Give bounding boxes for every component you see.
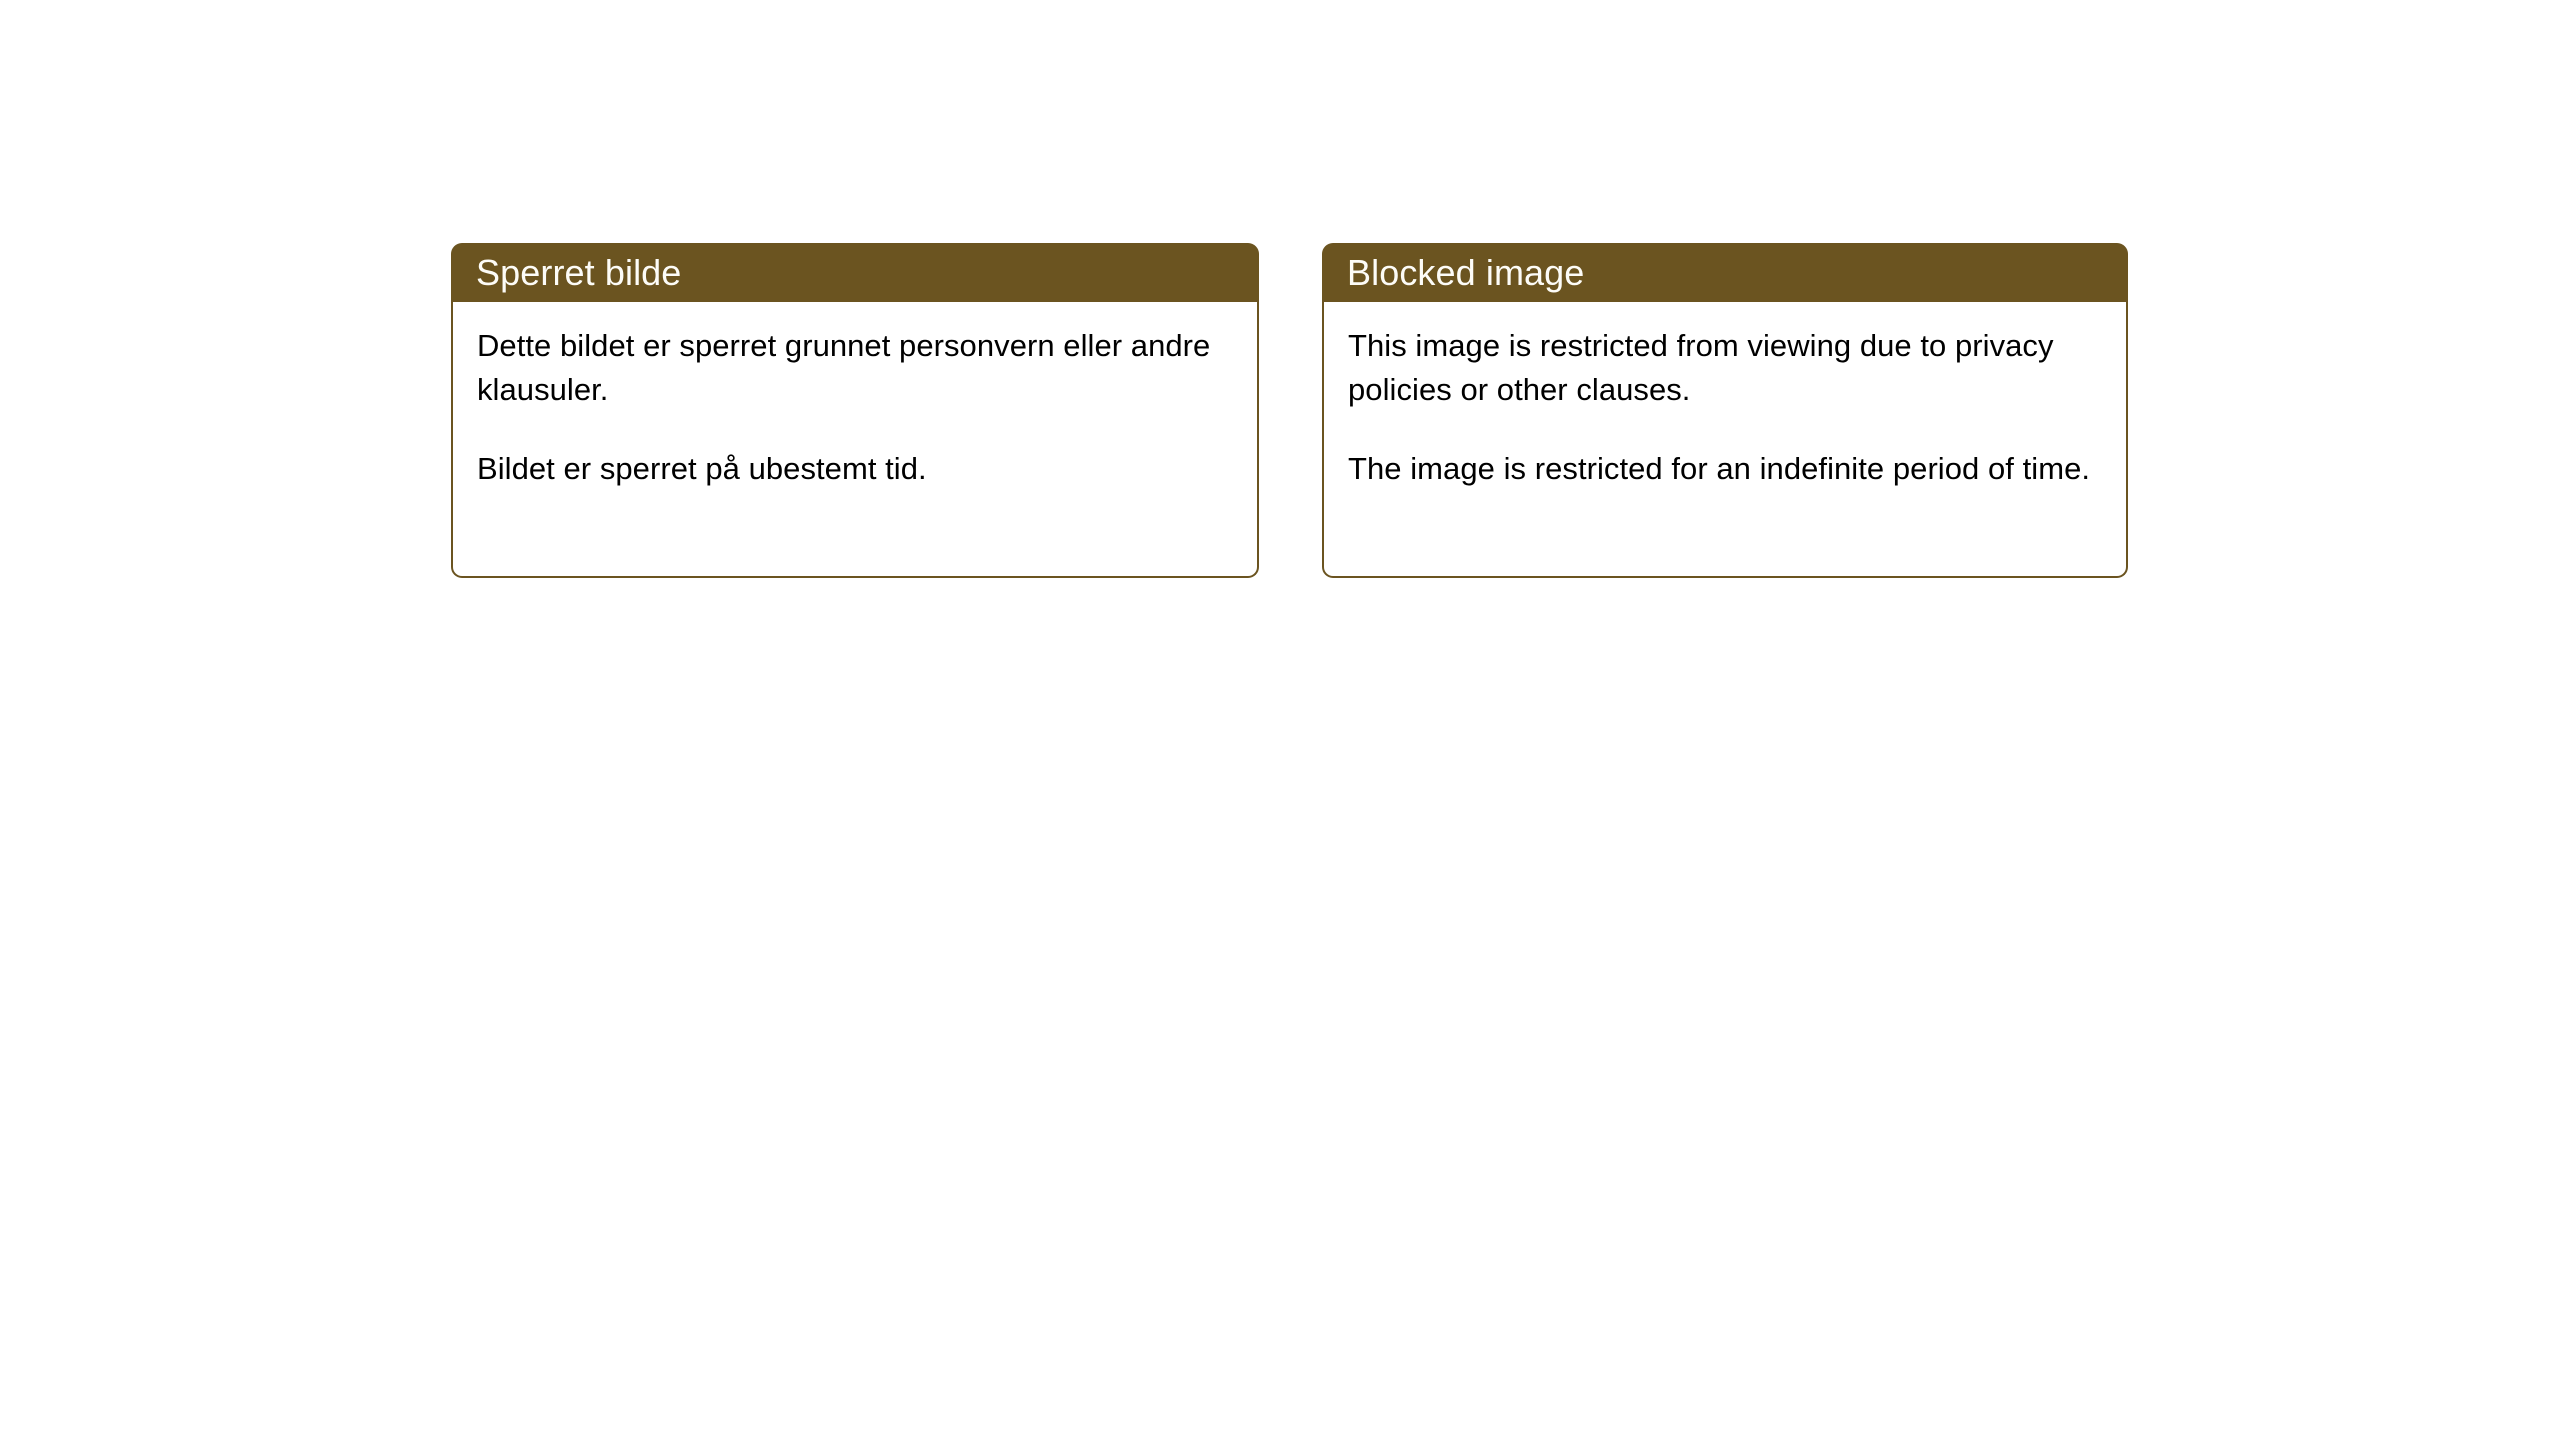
card-paragraph-primary: Dette bildet er sperret grunnet personve…	[477, 324, 1235, 412]
page-canvas: Sperret bilde Dette bildet er sperret gr…	[0, 0, 2560, 1440]
card-title: Blocked image	[1347, 253, 1584, 293]
blocked-image-notice-card-english: Blocked image This image is restricted f…	[1322, 243, 2128, 578]
blocked-image-notice-card-norwegian: Sperret bilde Dette bildet er sperret gr…	[451, 243, 1259, 578]
card-body: Dette bildet er sperret grunnet personve…	[451, 302, 1259, 578]
card-paragraph-primary: This image is restricted from viewing du…	[1348, 324, 2104, 412]
card-header-bar: Blocked image	[1322, 243, 2128, 302]
card-body: This image is restricted from viewing du…	[1322, 302, 2128, 578]
card-title: Sperret bilde	[476, 253, 681, 293]
card-paragraph-secondary: The image is restricted for an indefinit…	[1348, 447, 2104, 491]
card-paragraph-secondary: Bildet er sperret på ubestemt tid.	[477, 447, 1235, 491]
card-header-bar: Sperret bilde	[451, 243, 1259, 302]
